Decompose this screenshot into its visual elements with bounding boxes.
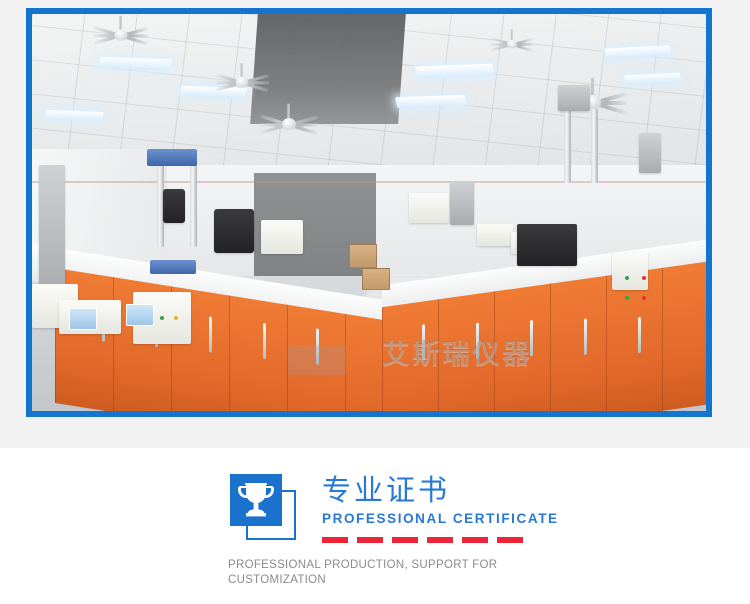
column-machine	[450, 181, 474, 225]
dash-segment	[392, 537, 418, 543]
indicator-led	[642, 276, 646, 280]
bench-instrument	[477, 224, 513, 246]
tall-test-frame	[558, 85, 590, 111]
cardboard-box	[362, 268, 390, 290]
certificate-subtitle: PROFESSIONAL PRODUCTION, SUPPORT FOR CUS…	[228, 558, 508, 588]
crosshead-blue	[147, 149, 197, 166]
specimen-stack	[163, 189, 185, 223]
enclosure-unit	[214, 209, 254, 253]
operator-panel	[69, 308, 97, 330]
dark-enclosure	[517, 224, 577, 266]
loading-column	[190, 157, 197, 247]
dash-segment	[322, 537, 348, 543]
ceiling-fan	[215, 76, 270, 88]
dash-divider	[322, 537, 559, 543]
panel-light	[98, 57, 173, 71]
cabinet-instrument	[409, 193, 449, 223]
wall-trim	[32, 181, 706, 183]
cabinet-handle	[316, 328, 319, 364]
rotary-test-unit	[261, 220, 303, 254]
trophy-icon	[228, 472, 300, 542]
far-machine	[639, 133, 661, 173]
certificate-title-cn: 专业证书	[322, 474, 559, 506]
cardboard-box	[349, 244, 377, 268]
ceiling-fan	[93, 28, 149, 41]
cabinet-handle	[263, 322, 266, 358]
dash-segment	[357, 537, 383, 543]
certificate-heading-row: 专业证书 PROFESSIONAL CERTIFICATE	[228, 472, 559, 543]
control-console	[612, 252, 648, 290]
photo-frame: 艾斯瑞仪器	[26, 8, 712, 417]
certificate-section: 专业证书 PROFESSIONAL CERTIFICATE PROFESSION…	[0, 448, 750, 604]
ceiling-dark-section	[251, 14, 407, 124]
ceiling-fan	[490, 39, 533, 49]
indicator-led	[625, 296, 629, 300]
indicator-led	[642, 296, 646, 300]
trophy-icon-filled-square	[230, 474, 282, 526]
certificate-text-block: 专业证书 PROFESSIONAL CERTIFICATE	[322, 472, 559, 543]
loading-column	[591, 109, 598, 183]
operator-panel	[126, 304, 154, 326]
ceiling-fan	[260, 117, 320, 131]
loading-column	[564, 109, 571, 183]
photo-band: 艾斯瑞仪器	[0, 0, 750, 448]
indicator-led	[160, 316, 164, 320]
dash-segment	[462, 537, 488, 543]
tall-test-frame	[39, 165, 65, 293]
panel-light	[45, 110, 105, 121]
lab-photo: 艾斯瑞仪器	[32, 14, 706, 411]
crosshead-blue	[150, 260, 196, 274]
indicator-led	[174, 316, 178, 320]
cabinet-handle	[209, 317, 212, 353]
dash-segment	[427, 537, 453, 543]
dash-segment	[497, 537, 523, 543]
certificate-title-en: PROFESSIONAL CERTIFICATE	[322, 510, 559, 528]
trophy-cup-glyph	[237, 480, 275, 520]
